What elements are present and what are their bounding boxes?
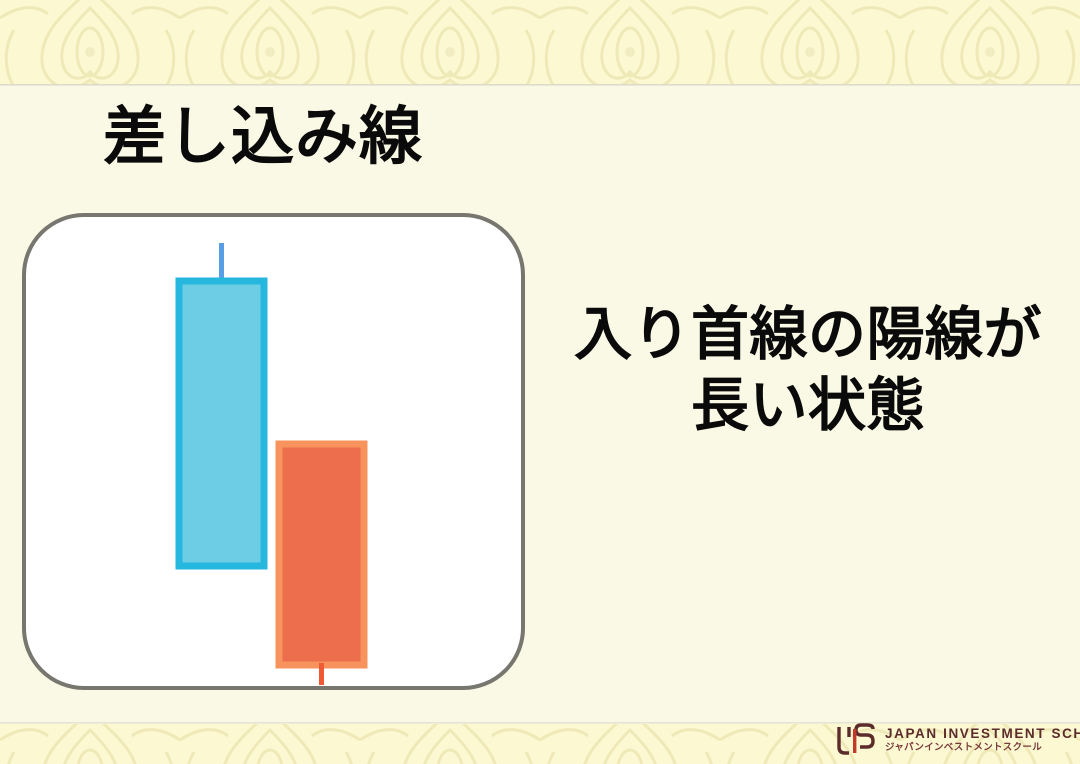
page-title: 差し込み線 <box>103 102 423 173</box>
jis-accent-bar <box>853 729 856 753</box>
caption-line-2: 長い状態 <box>548 371 1068 442</box>
logo-subtitle: ジャパンインベストメントスクール <box>885 742 1080 753</box>
jis-logo: JAPAN INVESTMENT SCHOOL ジャパンインベストメントスクール <box>836 723 1080 757</box>
candlestick-chart-card <box>22 213 525 690</box>
bearish-candle-lower-wick <box>319 663 324 685</box>
jis-monogram-icon <box>836 723 876 757</box>
bullish-candle-body <box>179 281 264 566</box>
bearish-candle <box>279 444 364 685</box>
logo-title: JAPAN INVESTMENT SCHOOL <box>885 726 1080 741</box>
bullish-candle-upper-wick <box>219 243 224 283</box>
logo-text-block: JAPAN INVESTMENT SCHOOL ジャパンインベストメントスクール <box>885 726 1080 754</box>
slide-root: 差し込み線 入り首線の陽線が 長い状態 <box>0 0 1080 764</box>
candlestick-chart <box>26 217 521 686</box>
bearish-candle-body <box>279 444 364 665</box>
header-divider <box>0 84 1080 86</box>
damask-pattern-top <box>0 0 1080 86</box>
header-decorative-band <box>0 0 1080 86</box>
bullish-candle <box>179 243 264 566</box>
caption-line-1: 入り首線の陽線が <box>548 300 1068 371</box>
caption-text: 入り首線の陽線が 長い状態 <box>548 300 1068 442</box>
